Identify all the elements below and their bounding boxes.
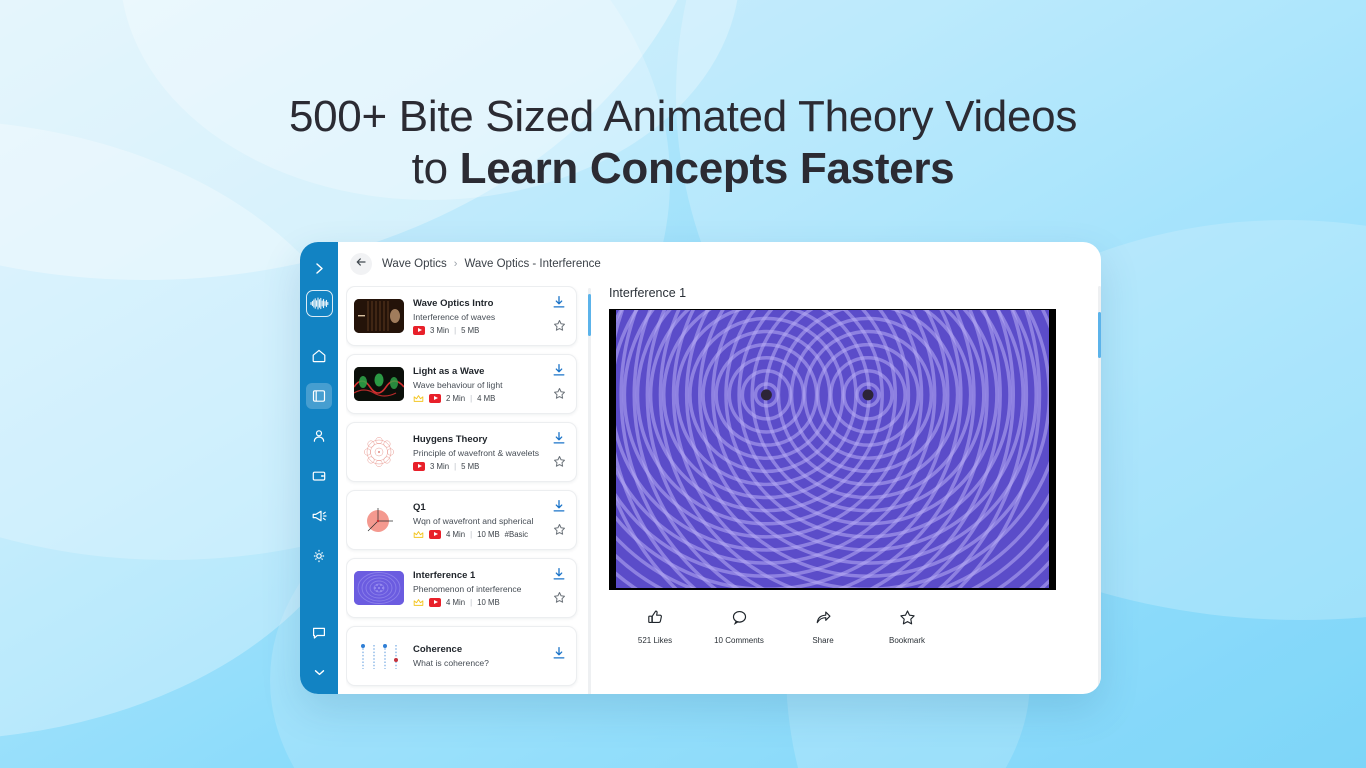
star-outline-icon[interactable] — [553, 319, 566, 337]
breadcrumb-separator: › — [454, 258, 458, 270]
like-count-label: 521 Likes — [638, 636, 672, 645]
video-thumbnail — [354, 571, 404, 605]
panes: Wave Optics Intro Interference of waves … — [338, 286, 1101, 694]
collapse-chevron-icon[interactable] — [307, 660, 331, 684]
window-content: Wave Optics › Wave Optics - Interference — [338, 242, 1101, 694]
wallet-icon — [311, 468, 327, 484]
download-icon[interactable] — [552, 646, 566, 665]
crown-icon — [413, 598, 424, 607]
breadcrumb-current: Wave Optics - Interference — [464, 258, 600, 270]
video-thumbnail — [354, 367, 404, 401]
bookmark-label: Bookmark — [889, 636, 925, 645]
list-item[interactable]: Huygens Theory Principle of wavefront & … — [346, 422, 577, 482]
bookmark-star-icon — [899, 609, 916, 631]
chat-icon — [311, 625, 327, 641]
list-item-text: Light as a Wave Wave behaviour of light … — [404, 366, 548, 403]
star-outline-icon[interactable] — [553, 523, 566, 541]
list-item[interactable]: Coherence What is coherence? — [346, 626, 577, 686]
expand-chevron-icon[interactable] — [307, 256, 331, 280]
list-item-meta: 3 Min | 5 MB — [413, 462, 548, 471]
download-icon[interactable] — [552, 567, 566, 586]
list-item-actions — [548, 295, 570, 337]
breadcrumb-bar: Wave Optics › Wave Optics - Interference — [338, 242, 1101, 286]
list-item-subtitle: Interference of waves — [413, 311, 548, 323]
headline-line-2-bold: Learn Concepts Fasters — [460, 144, 955, 193]
list-item-text: Wave Optics Intro Interference of waves … — [404, 298, 548, 335]
person-icon — [311, 428, 327, 444]
list-item-title: Wave Optics Intro — [413, 298, 548, 310]
video-list-pane: Wave Optics Intro Interference of waves … — [346, 286, 591, 694]
like-button[interactable]: 521 Likes — [613, 609, 697, 645]
breadcrumb-parent[interactable]: Wave Optics — [382, 258, 447, 270]
list-item-title: Interference 1 — [413, 570, 548, 582]
video-thumbnail — [354, 299, 404, 333]
list-item-subtitle: What is coherence? — [413, 657, 548, 669]
crown-icon — [413, 530, 424, 539]
meta-divider: | — [470, 530, 472, 539]
list-item-duration: 3 Min — [430, 462, 449, 471]
list-item-meta: 2 Min | 4 MB — [413, 394, 548, 403]
star-outline-icon[interactable] — [553, 455, 566, 473]
video-player[interactable] — [609, 309, 1056, 590]
thumbs-up-icon — [647, 609, 664, 631]
sidebar-rail — [300, 242, 338, 694]
youtube-play-icon — [413, 326, 425, 335]
list-item-size: 5 MB — [461, 462, 479, 471]
list-item-subtitle: Phenomenon of interference — [413, 583, 548, 595]
list-scrollbar[interactable] — [588, 288, 591, 694]
list-item-title: Coherence — [413, 644, 548, 656]
list-item-duration: 3 Min — [430, 326, 449, 335]
youtube-play-icon — [413, 462, 425, 471]
list-item[interactable]: Q1 Wqn of wavefront and spherical 4 Min … — [346, 490, 577, 550]
share-button[interactable]: Share — [781, 609, 865, 645]
waveform-icon[interactable] — [306, 290, 333, 317]
list-item-text: Interference 1 Phenomenon of interferenc… — [404, 570, 548, 607]
sidebar-item-announcements[interactable] — [306, 503, 332, 529]
video-thumbnail — [354, 639, 404, 673]
list-item-text: Coherence What is coherence? — [404, 644, 548, 669]
meta-divider: | — [470, 598, 472, 607]
list-item-actions — [548, 431, 570, 473]
list-item-subtitle: Principle of wavefront & wavelets — [413, 447, 548, 459]
video-actions: 521 Likes 10 Comments Shar — [609, 609, 1088, 645]
list-item-tag: #Basic — [505, 530, 528, 539]
headline-line-2-prefix: to — [412, 144, 460, 193]
sidebar-item-library[interactable] — [306, 383, 332, 409]
bookmark-button[interactable]: Bookmark — [865, 609, 949, 645]
list-item-title: Light as a Wave — [413, 366, 548, 378]
list-item-actions — [548, 363, 570, 405]
download-icon[interactable] — [552, 499, 566, 518]
page-background: 500+ Bite Sized Animated Theory Videos t… — [0, 0, 1366, 768]
page-headline: 500+ Bite Sized Animated Theory Videos t… — [0, 93, 1366, 193]
list-item-text: Huygens Theory Principle of wavefront & … — [404, 434, 548, 471]
arrow-left-icon — [355, 255, 367, 273]
list-item-size: 4 MB — [477, 394, 495, 403]
list-item-meta: 4 Min | 10 MB #Basic — [413, 530, 548, 539]
download-icon[interactable] — [552, 363, 566, 382]
list-item-size: 10 MB — [477, 598, 500, 607]
list-item[interactable]: Wave Optics Intro Interference of waves … — [346, 286, 577, 346]
meta-divider: | — [454, 326, 456, 335]
page-scrollbar-thumb[interactable] — [1098, 312, 1101, 358]
video-pane: Interference 1 — [591, 286, 1088, 694]
video-list: Wave Optics Intro Interference of waves … — [346, 286, 581, 694]
share-label: Share — [812, 636, 833, 645]
list-item-meta: 4 Min | 10 MB — [413, 598, 548, 607]
comment-button[interactable]: 10 Comments — [697, 609, 781, 645]
sidebar-item-settings[interactable] — [306, 543, 332, 569]
breadcrumb: Wave Optics › Wave Optics - Interference — [382, 258, 601, 270]
comment-icon — [731, 609, 748, 631]
star-outline-icon[interactable] — [553, 591, 566, 609]
video-thumbnail — [354, 435, 404, 469]
headline-line-2: to Learn Concepts Fasters — [0, 145, 1366, 193]
wave-source-left — [761, 389, 772, 400]
star-outline-icon[interactable] — [553, 387, 566, 405]
share-icon — [815, 609, 832, 631]
youtube-play-icon — [429, 530, 441, 539]
sidebar-item-wallet[interactable] — [306, 463, 332, 489]
app-window: Wave Optics › Wave Optics - Interference — [300, 242, 1101, 694]
list-item-text: Q1 Wqn of wavefront and spherical 4 Min … — [404, 502, 548, 539]
youtube-play-icon — [429, 394, 441, 403]
download-icon[interactable] — [552, 295, 566, 314]
list-item-size: 5 MB — [461, 326, 479, 335]
video-thumbnail — [354, 503, 404, 537]
crown-icon — [413, 394, 424, 403]
book-icon — [311, 388, 327, 404]
sidebar-item-profile[interactable] — [306, 423, 332, 449]
list-item-duration: 4 Min — [446, 598, 465, 607]
video-title: Interference 1 — [609, 286, 1088, 300]
comment-count-label: 10 Comments — [714, 636, 764, 645]
list-item-meta: 3 Min | 5 MB — [413, 326, 548, 335]
list-item-actions — [548, 499, 570, 541]
list-item[interactable]: Light as a Wave Wave behaviour of light … — [346, 354, 577, 414]
sidebar-item-support-chat[interactable] — [306, 620, 332, 646]
video-frame — [616, 310, 1049, 588]
list-item-duration: 2 Min — [446, 394, 465, 403]
interference-pattern — [616, 310, 1049, 588]
headline-line-1: 500+ Bite Sized Animated Theory Videos — [289, 92, 1077, 141]
meta-divider: | — [470, 394, 472, 403]
list-item-title: Huygens Theory — [413, 434, 548, 446]
home-icon — [311, 348, 327, 364]
list-item-actions — [548, 646, 570, 666]
list-item-size: 10 MB — [477, 530, 500, 539]
download-icon[interactable] — [552, 431, 566, 450]
list-item[interactable]: Interference 1 Phenomenon of interferenc… — [346, 558, 577, 618]
megaphone-icon — [311, 508, 328, 524]
back-button[interactable] — [350, 253, 372, 275]
list-scrollbar-thumb[interactable] — [588, 294, 591, 336]
sidebar-item-home[interactable] — [306, 343, 332, 369]
list-item-subtitle: Wave behaviour of light — [413, 379, 548, 391]
list-item-duration: 4 Min — [446, 530, 465, 539]
list-item-subtitle: Wqn of wavefront and spherical — [413, 515, 548, 527]
wave-source-right — [863, 389, 874, 400]
page-scrollbar[interactable] — [1098, 286, 1101, 694]
meta-divider: | — [454, 462, 456, 471]
youtube-play-icon — [429, 598, 441, 607]
list-item-actions — [548, 567, 570, 609]
list-item-title: Q1 — [413, 502, 548, 514]
gear-icon — [311, 548, 327, 564]
